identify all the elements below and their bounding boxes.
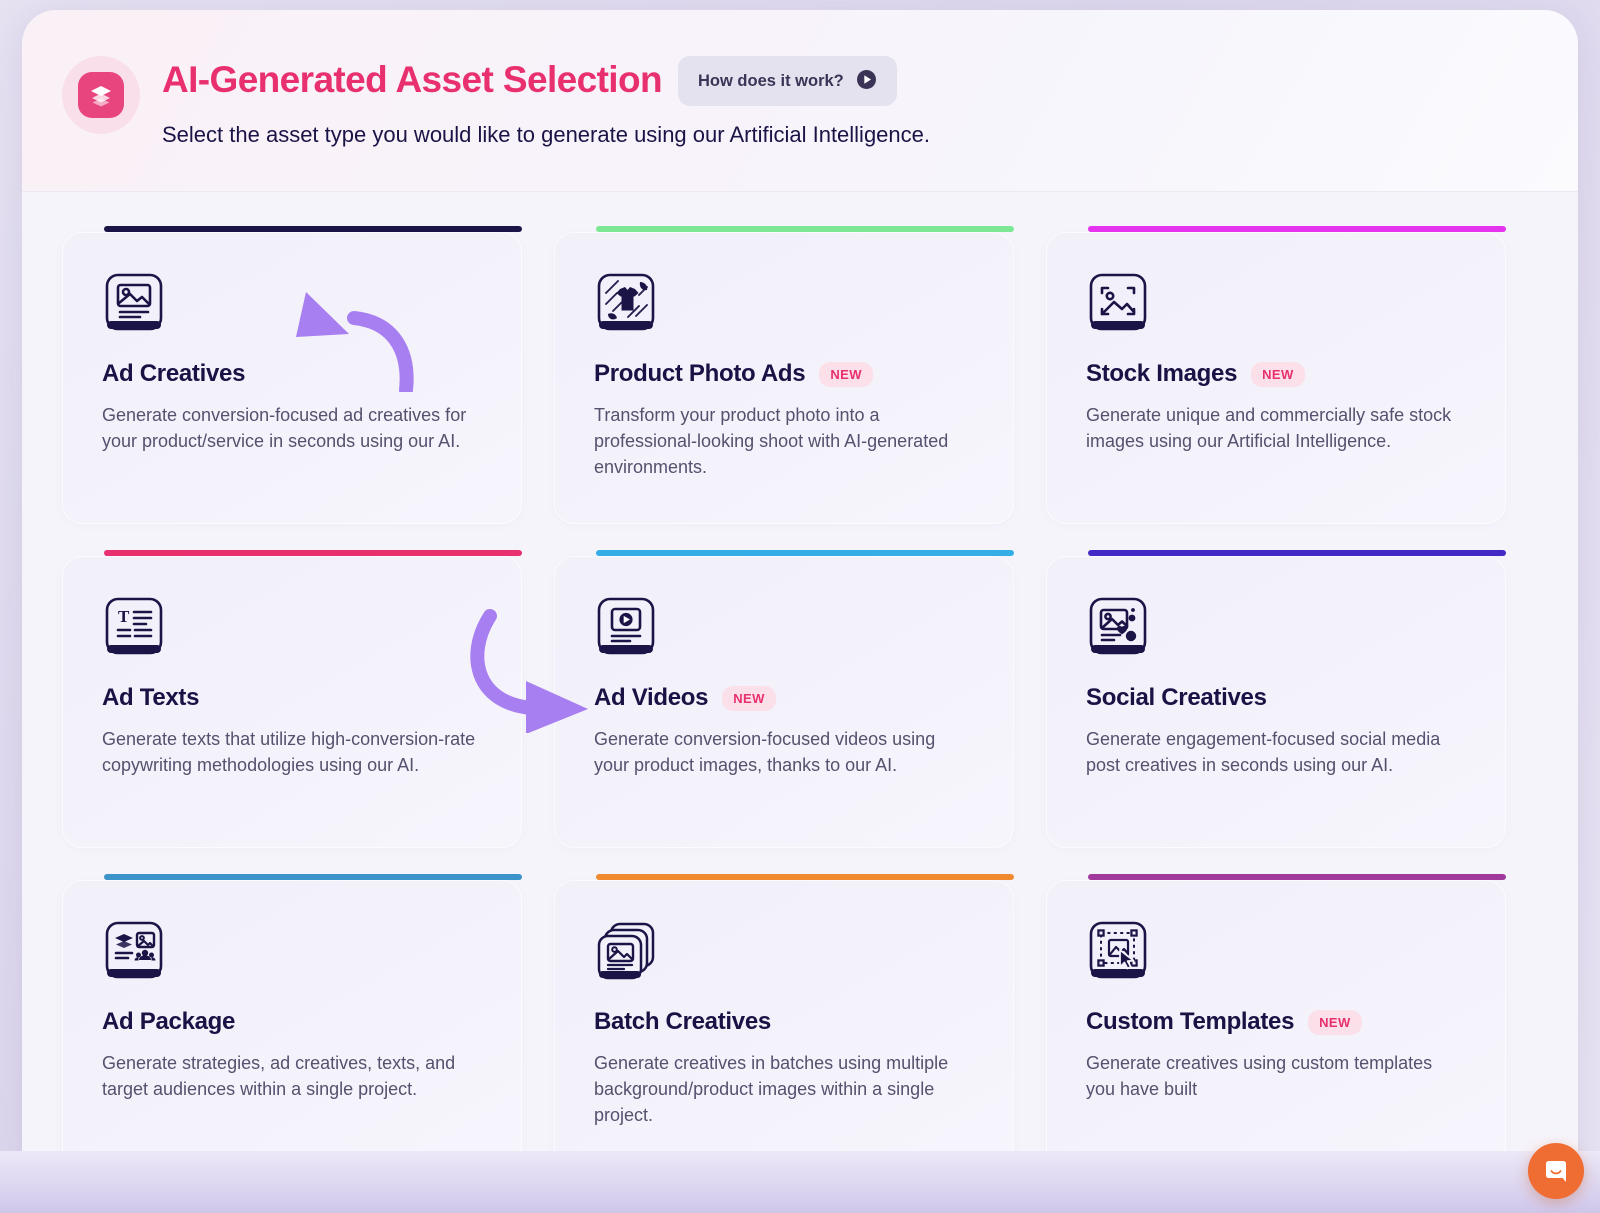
card-accent-bar [104,226,522,232]
card-accent-bar [1088,550,1506,556]
page-subtitle: Select the asset type you would like to … [162,120,930,150]
card-title: Stock Images [1086,360,1237,388]
card-accent-bar [596,550,1014,556]
page-bottom-band [0,1151,1600,1213]
card-title: Ad Creatives [102,360,245,388]
card-accent-bar [104,550,522,556]
card-accent-bar [1088,226,1506,232]
new-badge: NEW [722,686,776,711]
image-card-icon [102,270,166,334]
asset-type-grid: Ad Creatives Generate conversion-focused… [22,192,1578,1172]
app-frame: AI-Generated Asset Selection How does it… [0,0,1600,1213]
card-description: Transform your product photo into a prof… [594,402,974,480]
new-badge: NEW [1251,362,1305,387]
text-document-icon: T [102,594,166,658]
template-cursor-icon [1086,918,1150,982]
card-accent-bar [1088,874,1506,880]
intercom-chat-launcher[interactable] [1528,1143,1584,1199]
asset-card-ad-videos[interactable]: Ad Videos NEW Generate conversion-focuse… [554,556,1014,848]
card-title: Custom Templates [1086,1008,1294,1036]
layers-stack-icon [78,72,124,118]
how-does-it-work-label: How does it work? [698,72,844,91]
asset-card-batch-creatives[interactable]: Batch Creatives Generate creatives in ba… [554,880,1014,1172]
asset-card-product-photo-ads[interactable]: Product Photo Ads NEW Transform your pro… [554,232,1014,524]
card-description: Generate creatives in batches using mult… [594,1050,974,1128]
card-description: Generate strategies, ad creatives, texts… [102,1050,482,1102]
asset-card-ad-texts[interactable]: T Ad Texts [62,556,522,848]
card-accent-bar [596,226,1014,232]
asset-selection-panel: AI-Generated Asset Selection How does it… [22,10,1578,1182]
asset-card-stock-images[interactable]: Stock Images NEW Generate unique and com… [1046,232,1506,524]
framed-image-icon [1086,270,1150,334]
page-header: AI-Generated Asset Selection How does it… [22,10,1578,192]
social-post-icon [1086,594,1150,658]
card-description: Generate texts that utilize high-convers… [102,726,482,778]
card-title: Social Creatives [1086,684,1267,712]
asset-card-ad-creatives[interactable]: Ad Creatives Generate conversion-focused… [62,232,522,524]
new-badge: NEW [819,362,873,387]
video-play-icon [594,594,658,658]
stacked-images-icon [594,918,658,982]
tshirt-photo-icon [594,270,658,334]
card-title: Product Photo Ads [594,360,805,388]
card-description: Generate conversion-focused videos using… [594,726,974,778]
new-badge: NEW [1308,1010,1362,1035]
asset-card-ad-package[interactable]: Ad Package Generate strategies, ad creat… [62,880,522,1172]
card-accent-bar [104,874,522,880]
app-logo [62,56,140,134]
card-title: Ad Videos [594,684,708,712]
asset-card-social-creatives[interactable]: Social Creatives Generate engagement-foc… [1046,556,1506,848]
card-accent-bar [596,874,1014,880]
play-circle-icon [856,69,877,93]
card-description: Generate creatives using custom template… [1086,1050,1466,1102]
card-description: Generate conversion-focused ad creatives… [102,402,482,454]
card-description: Generate unique and commercially safe st… [1086,402,1466,454]
how-does-it-work-button[interactable]: How does it work? [678,56,897,106]
svg-text:T: T [118,607,130,626]
title-row: AI-Generated Asset Selection How does it… [162,54,930,106]
card-title: Ad Texts [102,684,199,712]
card-description: Generate engagement-focused social media… [1086,726,1466,778]
card-title: Ad Package [102,1008,235,1036]
card-title: Batch Creatives [594,1008,771,1036]
package-grid-icon [102,918,166,982]
asset-card-custom-templates[interactable]: Custom Templates NEW Generate creatives … [1046,880,1506,1172]
page-title: AI-Generated Asset Selection [162,61,662,100]
